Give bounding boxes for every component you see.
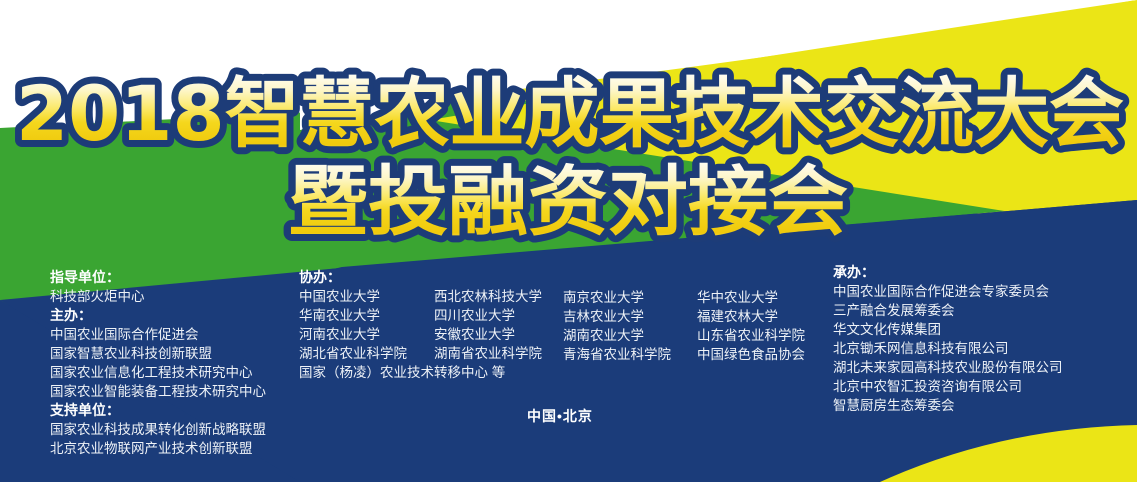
organizer-item: 中国农业国际合作促进会 [50,325,266,344]
hosts-column: 承办： 中国农业国际合作促进会专家委员会 三产融合发展筹委会 华文文化传媒集团 … [833,263,1063,415]
organizers-heading: 主办： [50,306,266,325]
host-item: 三产融合发展筹委会 [833,301,1063,320]
conference-poster: 2018智慧农业成果技术交流大会 2018智慧农业成果技术交流大会 暨投融资对接… [0,0,1137,482]
guidance-item: 科技部火炬中心 [50,287,266,306]
coorganizer-item: 安徽农业大学 [434,325,515,344]
supporters-heading: 支持单位： [50,401,266,420]
host-item: 智慧厨房生态筹委会 [833,396,1063,415]
coorganizer-item: 中国农业大学 [299,287,434,306]
coorganizer-item: 福建农林大学 [697,307,805,326]
organizer-item: 国家农业智能装备工程技术研究中心 [50,382,266,401]
coorganizer-item: 湖南农业大学 [563,326,671,345]
coorganizer-item: 西北农林科技大学 [434,287,542,306]
coorganizer-item: 国家（杨凌）农业技术转移中心 等 [299,363,542,382]
organizer-item: 国家农业信息化工程技术研究中心 [50,363,266,382]
supporter-item: 北京农业物联网产业技术创新联盟 [50,439,266,458]
coorganizer-item: 四川农业大学 [434,306,515,325]
host-item: 中国农业国际合作促进会专家委员会 [833,282,1063,301]
coorganizer-item: 南京农业大学 [563,288,671,307]
coorganizer-item: 华南农业大学 [299,306,434,325]
supporter-item: 国家农业科技成果转化创新战略联盟 [50,420,266,439]
coorganizer-item: 华中农业大学 [697,288,805,307]
coorganizers-column-4: 华中农业大学 福建农林大学 山东省农业科学院 中国绿色食品协会 [697,288,805,364]
coorganizer-item: 河南农业大学 [299,325,434,344]
guidance-heading: 指导单位： [50,268,266,287]
coorganizer-item: 中国绿色食品协会 [697,345,805,364]
left-info-column: 指导单位： 科技部火炬中心 主办： 中国农业国际合作促进会 国家智慧农业科技创新… [50,268,266,458]
host-item: 北京中农智汇投资咨询有限公司 [833,377,1063,396]
coorganizers-column-3: 南京农业大学 吉林农业大学 湖南农业大学 青海省农业科学院 [563,288,671,364]
coorganizer-item: 吉林农业大学 [563,307,671,326]
coorganizer-item: 湖北省农业科学院 [299,344,434,363]
coorganizers-column-1: 协办： 中国农业大学 西北农林科技大学 华南农业大学 四川农业大学 河南农业大学… [299,268,542,382]
hosts-heading: 承办： [833,263,1063,282]
coorganizer-item: 湖南省农业科学院 [434,344,542,363]
coorganizer-item: 青海省农业科学院 [563,345,671,364]
organizer-item: 国家智慧农业科技创新联盟 [50,344,266,363]
coorganizer-item: 山东省农业科学院 [697,326,805,345]
host-item: 湖北未来家园高科技农业股份有限公司 [833,358,1063,377]
coorganizers-heading: 协办： [299,268,542,287]
host-item: 北京锄禾网信息科技有限公司 [833,339,1063,358]
venue-text: 中国•北京 [527,406,593,426]
host-item: 华文文化传媒集团 [833,320,1063,339]
